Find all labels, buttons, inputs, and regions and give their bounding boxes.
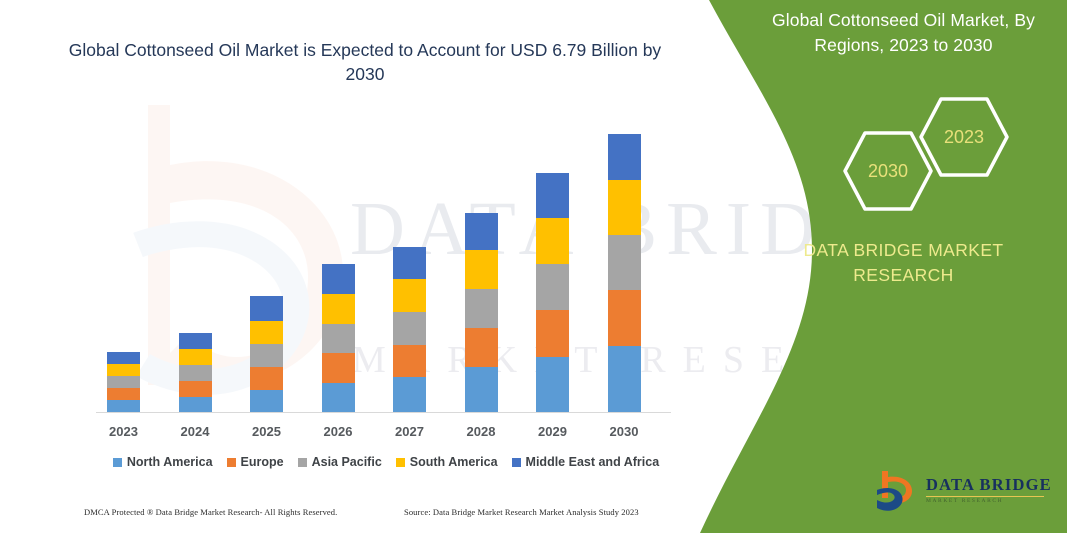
bar-segment bbox=[536, 264, 569, 310]
bar-2025 bbox=[250, 296, 283, 412]
bar-2029 bbox=[536, 173, 569, 412]
bar-segment bbox=[536, 218, 569, 264]
footer-copyright: DMCA Protected ® Data Bridge Market Rese… bbox=[84, 507, 404, 517]
bar-2027 bbox=[393, 247, 426, 412]
green-panel-content: Global Cottonseed Oil Market, By Regions… bbox=[740, 0, 1067, 533]
bar-segment bbox=[179, 381, 212, 397]
bar-segment bbox=[393, 279, 426, 312]
bar-segment bbox=[393, 377, 426, 412]
x-axis-label-2026: 2026 bbox=[308, 424, 368, 439]
logo-subtitle: MARKET RESEARCH bbox=[926, 499, 1052, 505]
bar-segment bbox=[322, 383, 355, 412]
bar-segment bbox=[608, 180, 641, 235]
bar-2023 bbox=[107, 352, 140, 412]
hexagon-2030-label: 2030 bbox=[868, 161, 908, 182]
bar-segment bbox=[536, 173, 569, 218]
bar-segment bbox=[393, 247, 426, 279]
bar-2030 bbox=[608, 134, 641, 412]
legend-item[interactable]: Middle East and Africa bbox=[512, 455, 660, 469]
bar-segment bbox=[608, 290, 641, 346]
bar-segment bbox=[465, 250, 498, 289]
bar-segment bbox=[107, 376, 140, 388]
x-axis-label-2028: 2028 bbox=[451, 424, 511, 439]
brand-name-line-1: DATA BRIDGE MARKET bbox=[750, 238, 1057, 263]
bar-segment bbox=[179, 333, 212, 349]
bar-segment bbox=[322, 324, 355, 353]
chart-legend: North AmericaEuropeAsia PacificSouth Ame… bbox=[96, 455, 676, 469]
x-axis-label-2030: 2030 bbox=[594, 424, 654, 439]
hexagon-2023-label: 2023 bbox=[944, 127, 984, 148]
legend-label: Asia Pacific bbox=[312, 455, 382, 469]
bar-segment bbox=[107, 400, 140, 412]
legend-item[interactable]: Asia Pacific bbox=[298, 455, 382, 469]
x-axis-line bbox=[96, 412, 671, 413]
legend-label: Europe bbox=[241, 455, 284, 469]
bar-segment bbox=[536, 357, 569, 412]
bar-segment bbox=[465, 289, 498, 328]
bar-segment bbox=[179, 397, 212, 412]
bar-segment bbox=[608, 134, 641, 180]
legend-label: North America bbox=[127, 455, 213, 469]
logo-text-block: DATA BRIDGE MARKET RESEARCH bbox=[926, 477, 1052, 505]
x-axis-label-2025: 2025 bbox=[237, 424, 297, 439]
bar-chart-plot-area bbox=[96, 120, 671, 413]
x-axis-label-2024: 2024 bbox=[165, 424, 225, 439]
panel-title: Global Cottonseed Oil Market, By Regions… bbox=[748, 8, 1059, 58]
bar-segment bbox=[393, 312, 426, 345]
bar-segment bbox=[179, 349, 212, 365]
hexagon-group: 2030 2023 bbox=[820, 96, 1010, 206]
footer: DMCA Protected ® Data Bridge Market Rese… bbox=[84, 507, 684, 517]
bar-2028 bbox=[465, 213, 498, 412]
logo-title: DATA BRIDGE bbox=[926, 477, 1052, 494]
page-title: Global Cottonseed Oil Market is Expected… bbox=[60, 38, 670, 86]
x-axis-label-2027: 2027 bbox=[380, 424, 440, 439]
bar-segment bbox=[250, 321, 283, 344]
bar-segment bbox=[322, 353, 355, 383]
bar-segment bbox=[465, 328, 498, 367]
legend-item[interactable]: North America bbox=[113, 455, 213, 469]
legend-item[interactable]: South America bbox=[396, 455, 498, 469]
legend-swatch-icon bbox=[512, 458, 521, 467]
bar-segment bbox=[250, 296, 283, 321]
bar-segment bbox=[393, 345, 426, 377]
data-bridge-logo: DATA BRIDGE MARKET RESEARCH bbox=[873, 466, 1058, 516]
bar-segment bbox=[322, 294, 355, 324]
bar-segment bbox=[107, 388, 140, 400]
bar-segment bbox=[250, 390, 283, 412]
logo-b-glyph-icon bbox=[873, 468, 919, 514]
legend-swatch-icon bbox=[113, 458, 122, 467]
bar-segment bbox=[465, 213, 498, 250]
legend-swatch-icon bbox=[396, 458, 405, 467]
hexagon-2023: 2023 bbox=[918, 96, 1010, 178]
brand-name: DATA BRIDGE MARKET RESEARCH bbox=[750, 238, 1057, 288]
bar-segment bbox=[536, 310, 569, 357]
x-axis-labels: 20232024202520262027202820292030 bbox=[96, 424, 671, 444]
brand-name-line-2: RESEARCH bbox=[750, 263, 1057, 288]
data-bridge-logo-mark-icon bbox=[873, 468, 919, 514]
x-axis-label-2029: 2029 bbox=[523, 424, 583, 439]
legend-swatch-icon bbox=[227, 458, 236, 467]
bar-segment bbox=[107, 352, 140, 364]
legend-swatch-icon bbox=[298, 458, 307, 467]
bar-segment bbox=[250, 344, 283, 367]
bar-2024 bbox=[179, 333, 212, 412]
bar-segment bbox=[179, 365, 212, 381]
logo-divider bbox=[926, 496, 1044, 498]
infographic-root: DATA BRIDGE MARKET RESEARCH Global Cotto… bbox=[0, 0, 1067, 533]
bar-2026 bbox=[322, 264, 355, 412]
legend-label: South America bbox=[410, 455, 498, 469]
bar-segment bbox=[608, 346, 641, 412]
bar-segment bbox=[465, 367, 498, 412]
legend-item[interactable]: Europe bbox=[227, 455, 284, 469]
bar-segment bbox=[107, 364, 140, 376]
chart-panel: DATA BRIDGE MARKET RESEARCH Global Cotto… bbox=[0, 0, 740, 533]
bar-segment bbox=[250, 367, 283, 390]
footer-source: Source: Data Bridge Market Research Mark… bbox=[404, 507, 684, 517]
bar-segment bbox=[608, 235, 641, 290]
legend-label: Middle East and Africa bbox=[526, 455, 660, 469]
x-axis-label-2023: 2023 bbox=[94, 424, 154, 439]
bar-segment bbox=[322, 264, 355, 294]
